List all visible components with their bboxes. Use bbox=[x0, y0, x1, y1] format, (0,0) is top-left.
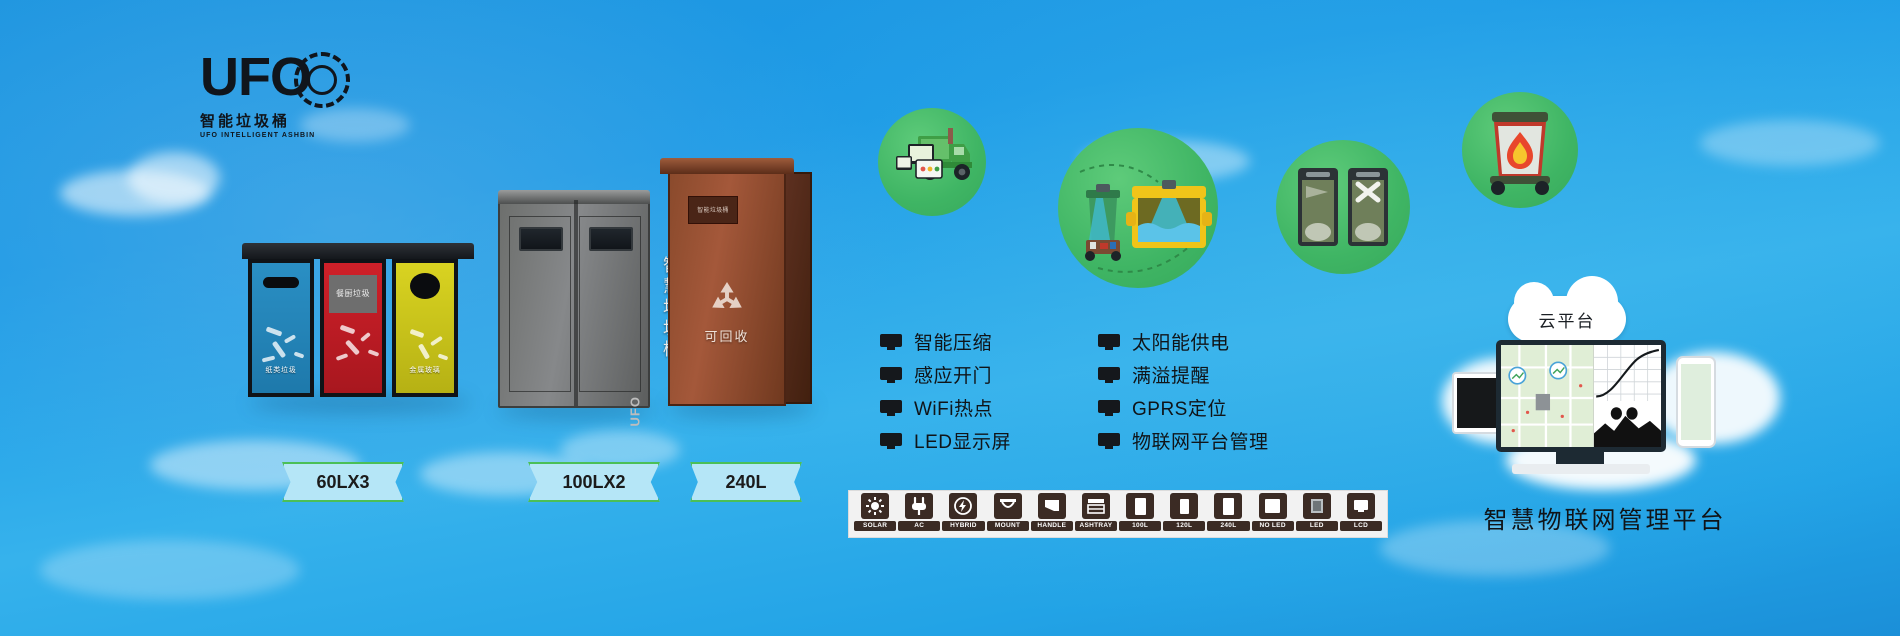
monitor-base bbox=[1512, 464, 1650, 474]
platform-title: 智慧物联网管理平台 bbox=[1440, 500, 1770, 535]
cloud-tag-label: 云平台 bbox=[1539, 307, 1596, 332]
spec-label: 240L bbox=[1207, 521, 1249, 531]
bin-panel-label: 金属玻璃 bbox=[396, 365, 454, 375]
bin-lid bbox=[660, 158, 794, 174]
bin-panel-label: 餐厨垃圾 bbox=[329, 275, 377, 313]
spec-icon-strip: SOLAR AC HYBRID MOUNT bbox=[848, 490, 1388, 538]
phone-screen bbox=[1681, 364, 1711, 440]
spec-label: HANDLE bbox=[1031, 521, 1073, 531]
dashboard-panels bbox=[1593, 345, 1661, 447]
bin-nameplate-text: 智能垃圾桶 bbox=[689, 197, 737, 225]
monitor-icon bbox=[880, 400, 902, 416]
feature-item: 物联网平台管理 bbox=[1098, 424, 1269, 457]
slot-rect-icon bbox=[263, 277, 299, 288]
brand-en-tagline: UFO INTELLIGENT ASHBIN bbox=[200, 132, 350, 139]
tablet-screen bbox=[1457, 378, 1497, 428]
cloud-decor bbox=[1700, 120, 1880, 166]
panel-sign: 餐厨垃圾 bbox=[329, 275, 377, 313]
product-brown-bin: 智能垃圾桶 可回收 bbox=[668, 168, 786, 406]
spec-label: SOLAR bbox=[854, 521, 896, 531]
spec-item-240l: 240L bbox=[1207, 493, 1249, 535]
ribbon-label: 100LX2 bbox=[562, 472, 625, 493]
litter-graphic bbox=[404, 323, 446, 367]
spec-label: 100L bbox=[1119, 521, 1161, 531]
recycle-label: 可回收 bbox=[670, 326, 784, 345]
spec-label: ASHTRAY bbox=[1075, 521, 1117, 531]
feature-item: 感应开门 bbox=[880, 358, 1011, 391]
bin-240l-icon bbox=[1214, 493, 1242, 519]
spec-item-120l: 120L bbox=[1163, 493, 1205, 535]
spec-item-lcd: LCD bbox=[1340, 493, 1382, 535]
bin-divider bbox=[574, 200, 578, 406]
feature-item: GPRS定位 bbox=[1098, 391, 1269, 424]
feature-circle-fleet-management bbox=[878, 108, 986, 216]
spec-item-handle: HANDLE bbox=[1031, 493, 1073, 535]
monitor-icon bbox=[880, 334, 902, 350]
led-icon bbox=[1303, 493, 1331, 519]
feature-label: 感应开门 bbox=[914, 361, 992, 388]
bin-side-panel bbox=[786, 172, 812, 404]
monitor-icon bbox=[1098, 334, 1120, 350]
spec-item-no-led: NO LED bbox=[1252, 493, 1294, 535]
bolt-circle-icon bbox=[949, 493, 977, 519]
feature-label: 智能压缩 bbox=[914, 328, 992, 355]
product-double-smart-bin: UFO 智慧垃圾桶 bbox=[498, 198, 650, 408]
ashtray-icon bbox=[1082, 493, 1110, 519]
brand-cn-name: 智能垃圾桶 bbox=[200, 110, 350, 131]
feature-column-left: 智能压缩 感应开门 WiFi热点 LED显示屏 bbox=[880, 325, 1011, 457]
dashboard-photo bbox=[1593, 401, 1661, 447]
feature-circle-fire-detection bbox=[1462, 92, 1578, 208]
monitor-screen bbox=[1501, 345, 1661, 447]
phone-device bbox=[1676, 356, 1716, 448]
feature-item: 智能压缩 bbox=[880, 325, 1011, 358]
feature-label: WiFi热点 bbox=[914, 394, 993, 421]
bin-nameplate: 智能垃圾桶 bbox=[688, 196, 738, 224]
monitor-device bbox=[1496, 340, 1666, 452]
dashboard-chart bbox=[1593, 345, 1661, 401]
plug-icon bbox=[905, 493, 933, 519]
bin-120l-icon bbox=[1170, 493, 1198, 519]
litter-graphic bbox=[332, 323, 374, 367]
slot-round-icon bbox=[410, 273, 440, 299]
cloud-decor bbox=[128, 152, 220, 204]
feature-circle-waste-compaction bbox=[1276, 140, 1410, 274]
no-led-icon bbox=[1259, 493, 1287, 519]
ufo-ring-icon bbox=[294, 52, 350, 108]
spec-label: 120L bbox=[1163, 521, 1205, 531]
feature-item: WiFi热点 bbox=[880, 391, 1011, 424]
bin-body: 智能垃圾桶 可回收 bbox=[668, 168, 786, 406]
monitor-icon bbox=[1098, 433, 1120, 449]
sun-icon bbox=[861, 493, 889, 519]
handle-icon bbox=[1038, 493, 1066, 519]
twin-compaction-bins-icon bbox=[1276, 140, 1410, 274]
bin-fire-alarm-icon bbox=[1462, 92, 1578, 208]
feature-label: GPRS定位 bbox=[1132, 394, 1227, 421]
bin-100l-icon bbox=[1126, 493, 1154, 519]
monitor-icon bbox=[880, 367, 902, 383]
product-triple-bin: 纸类垃圾 餐厨垃圾 金属玻璃 bbox=[248, 255, 468, 400]
capacity-ribbon-100lx2: 100LX2 bbox=[528, 462, 660, 502]
dashboard-map bbox=[1501, 345, 1593, 447]
bin-display-screen bbox=[519, 227, 563, 251]
spec-item-ashtray: ASHTRAY bbox=[1075, 493, 1117, 535]
bin-panel-metal-glass: 金属玻璃 bbox=[392, 259, 458, 397]
bin-door-left bbox=[509, 216, 571, 392]
spec-item-100l: 100L bbox=[1119, 493, 1161, 535]
cloud-decor bbox=[40, 540, 300, 600]
spec-item-mount: MOUNT bbox=[987, 493, 1029, 535]
spec-label: AC bbox=[898, 521, 940, 531]
tablet-device bbox=[1452, 372, 1502, 434]
bin-display-screen bbox=[589, 227, 633, 251]
feature-item: 太阳能供电 bbox=[1098, 325, 1269, 358]
feature-label: 满溢提醒 bbox=[1132, 361, 1210, 388]
feature-column-right: 太阳能供电 满溢提醒 GPRS定位 物联网平台管理 bbox=[1098, 325, 1269, 457]
spec-item-led: LED bbox=[1296, 493, 1338, 535]
monitor-icon bbox=[880, 433, 902, 449]
bin-body: UFO bbox=[498, 198, 650, 408]
spec-label: NO LED bbox=[1252, 521, 1294, 531]
monitor-icon bbox=[1098, 400, 1120, 416]
feature-label: 太阳能供电 bbox=[1132, 328, 1230, 355]
feature-label: 物联网平台管理 bbox=[1132, 427, 1269, 454]
capacity-ribbon-60lx3: 60LX3 bbox=[282, 462, 404, 502]
bin-panel-paper: 纸类垃圾 bbox=[248, 259, 314, 397]
spec-item-hybrid: HYBRID bbox=[942, 493, 984, 535]
ribbon-label: 60LX3 bbox=[316, 472, 369, 493]
brand-logo: UFO 智能垃圾桶 UFO INTELLIGENT ASHBIN bbox=[200, 50, 350, 150]
litter-graphic bbox=[260, 323, 302, 367]
bin-panel-label: 纸类垃圾 bbox=[252, 365, 310, 375]
spec-label: LCD bbox=[1340, 521, 1382, 531]
capacity-ribbon-240l: 240L bbox=[690, 462, 802, 502]
spec-label: MOUNT bbox=[987, 521, 1029, 531]
feature-item: LED显示屏 bbox=[880, 424, 1011, 457]
bin-panel-kitchen: 餐厨垃圾 bbox=[320, 259, 386, 397]
bin-fill-sensor-icon bbox=[1058, 128, 1218, 288]
bin-door-right bbox=[579, 216, 641, 392]
feature-item: 满溢提醒 bbox=[1098, 358, 1269, 391]
spec-item-solar: SOLAR bbox=[854, 493, 896, 535]
spec-item-ac: AC bbox=[898, 493, 940, 535]
ribbon-label: 240L bbox=[725, 472, 766, 493]
wall-mount-icon bbox=[994, 493, 1022, 519]
garbage-truck-and-devices-icon bbox=[878, 108, 986, 216]
spec-label: HYBRID bbox=[942, 521, 984, 531]
spec-label: LED bbox=[1296, 521, 1338, 531]
feature-label: LED显示屏 bbox=[914, 427, 1011, 454]
lcd-icon bbox=[1347, 493, 1375, 519]
recycle-icon bbox=[705, 278, 749, 320]
bin-lid bbox=[242, 243, 474, 259]
bin-brand-mark: UFO bbox=[627, 396, 642, 426]
monitor-icon bbox=[1098, 367, 1120, 383]
feature-circle-fill-level-sensing bbox=[1058, 128, 1218, 288]
promo-banner: UFO 智能垃圾桶 UFO INTELLIGENT ASHBIN 纸类垃圾 餐厨… bbox=[0, 0, 1900, 636]
